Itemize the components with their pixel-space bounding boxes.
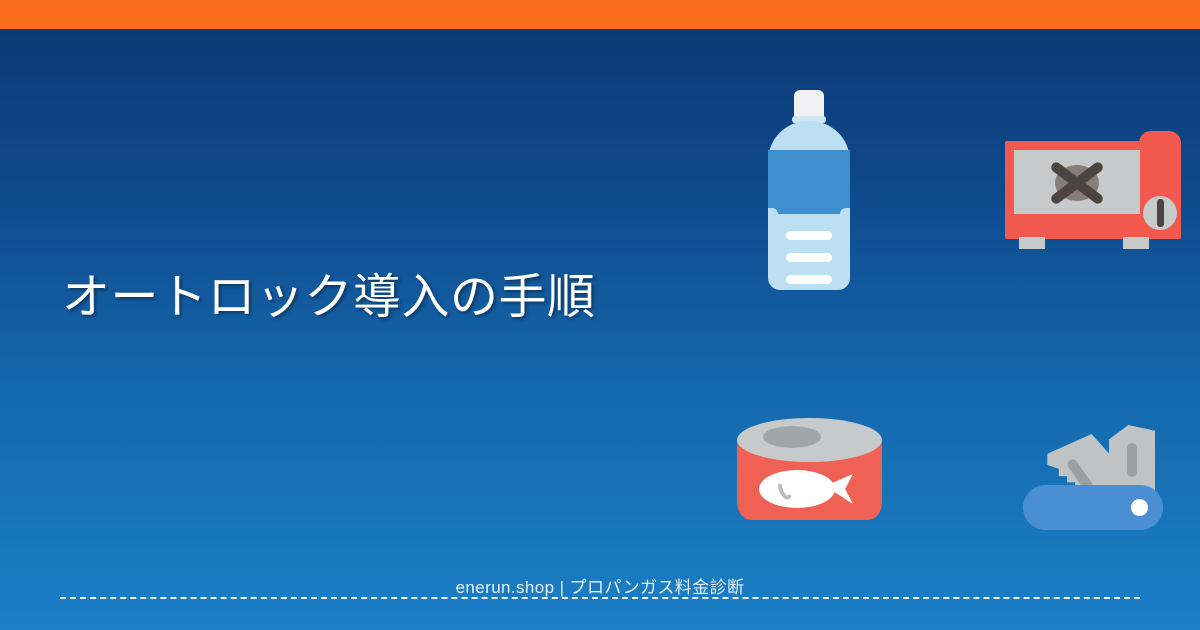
knife-handle-dot	[1131, 499, 1148, 516]
canned-fish-icon	[737, 418, 882, 530]
bottle-stripe	[786, 231, 832, 240]
pocket-knife-icon	[1023, 425, 1163, 530]
safe-icon	[1005, 131, 1181, 249]
bottle-label-band	[768, 150, 850, 214]
slide-background	[0, 29, 1200, 630]
water-bottle-icon	[768, 90, 850, 290]
safe-foot	[1123, 237, 1149, 249]
footer-branding: enerun.shop | プロパンガス料金診断	[0, 573, 1200, 598]
knife-plain-blade-nail-nick	[1127, 443, 1137, 477]
bottle-stripe	[786, 275, 832, 284]
slide-canvas: オートロック導入の手順	[0, 0, 1200, 630]
footer-divider	[60, 597, 1140, 599]
page-title: オートロック導入の手順	[62, 268, 702, 328]
top-accent-bar	[0, 0, 1200, 29]
can-pull-tab	[763, 426, 821, 448]
bottle-stripe	[786, 253, 832, 262]
safe-handle-bar	[1157, 199, 1164, 227]
safe-foot	[1019, 237, 1045, 249]
fish-body	[759, 470, 835, 508]
